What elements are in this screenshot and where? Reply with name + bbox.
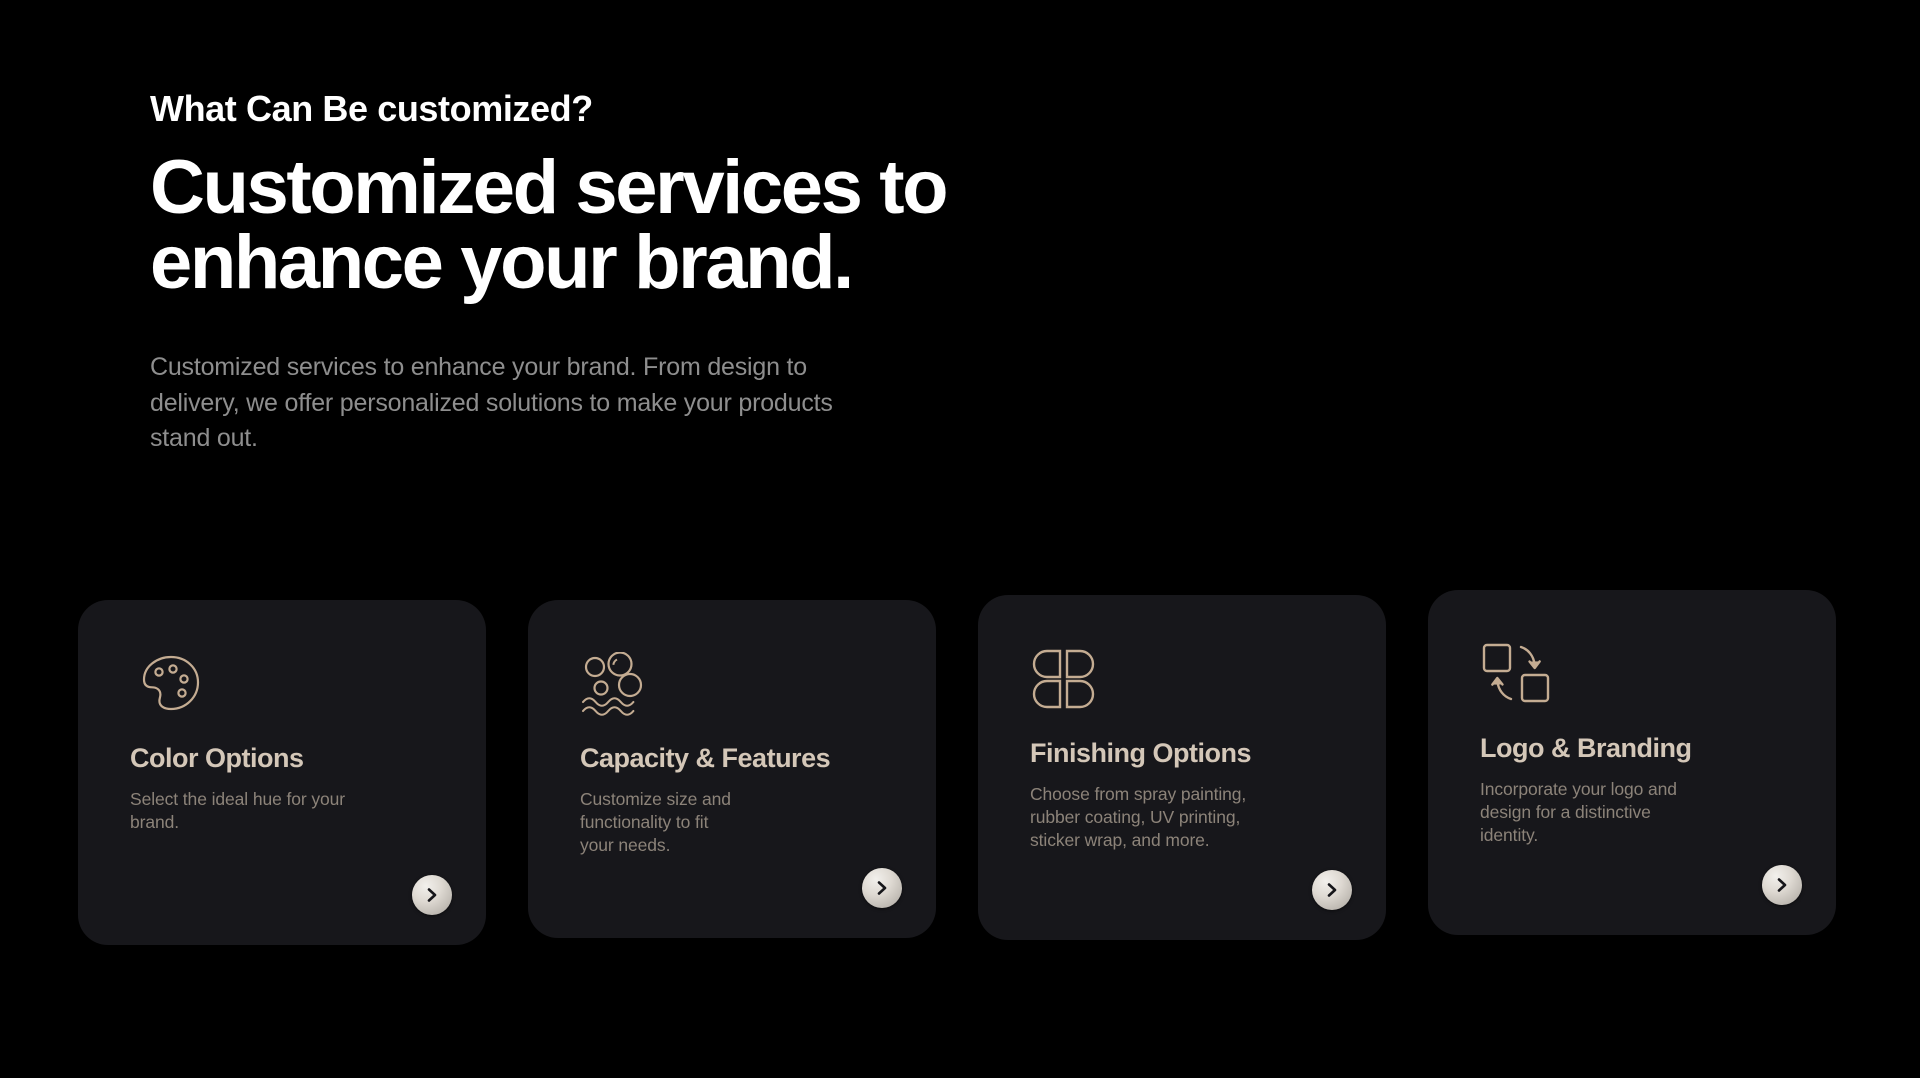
- card-arrow-button[interactable]: [1312, 870, 1352, 910]
- card-arrow-button[interactable]: [1762, 865, 1802, 905]
- card-arrow-button[interactable]: [412, 875, 452, 915]
- card-description: Choose from spray painting, rubber coati…: [1030, 783, 1330, 853]
- chevron-right-icon: [873, 879, 891, 897]
- page-title: Customized services to enhance your bran…: [150, 151, 1150, 300]
- hero-copy: What Can Be customized? Customized servi…: [150, 88, 1250, 457]
- card-description: Select the ideal hue for your brand.: [130, 788, 430, 835]
- headline-line-1: Customized services to: [150, 145, 946, 230]
- two-squares-swap-icon: [1480, 642, 1554, 706]
- bubbles-waves-icon: [580, 652, 654, 716]
- four-petals-icon: [1030, 647, 1104, 711]
- palette-icon: [130, 652, 204, 716]
- feature-card-grid: Color Options Select the ideal hue for y…: [78, 600, 1848, 960]
- feature-card-logo-branding[interactable]: Logo & Branding Incorporate your logo an…: [1428, 590, 1836, 935]
- chevron-right-icon: [1773, 876, 1791, 894]
- card-title: Color Options: [130, 744, 446, 774]
- chevron-right-icon: [1323, 881, 1341, 899]
- card-title: Finishing Options: [1030, 739, 1346, 769]
- feature-card-finishing-options[interactable]: Finishing Options Choose from spray pain…: [978, 595, 1386, 940]
- card-description: Customize size and functionality to fit …: [580, 788, 880, 858]
- chevron-right-icon: [423, 886, 441, 904]
- card-arrow-button[interactable]: [862, 868, 902, 908]
- card-description: Incorporate your logo and design for a d…: [1480, 778, 1780, 848]
- card-title: Logo & Branding: [1480, 734, 1796, 764]
- hero-description: Customized services to enhance your bran…: [150, 350, 890, 457]
- headline-line-2: enhance your brand.: [150, 226, 1150, 300]
- section-eyebrow: What Can Be customized?: [150, 88, 1250, 129]
- feature-card-capacity-features[interactable]: Capacity & Features Customize size and f…: [528, 600, 936, 938]
- feature-card-color-options[interactable]: Color Options Select the ideal hue for y…: [78, 600, 486, 945]
- customization-section: What Can Be customized? Customized servi…: [0, 0, 1920, 1078]
- card-title: Capacity & Features: [580, 744, 896, 774]
